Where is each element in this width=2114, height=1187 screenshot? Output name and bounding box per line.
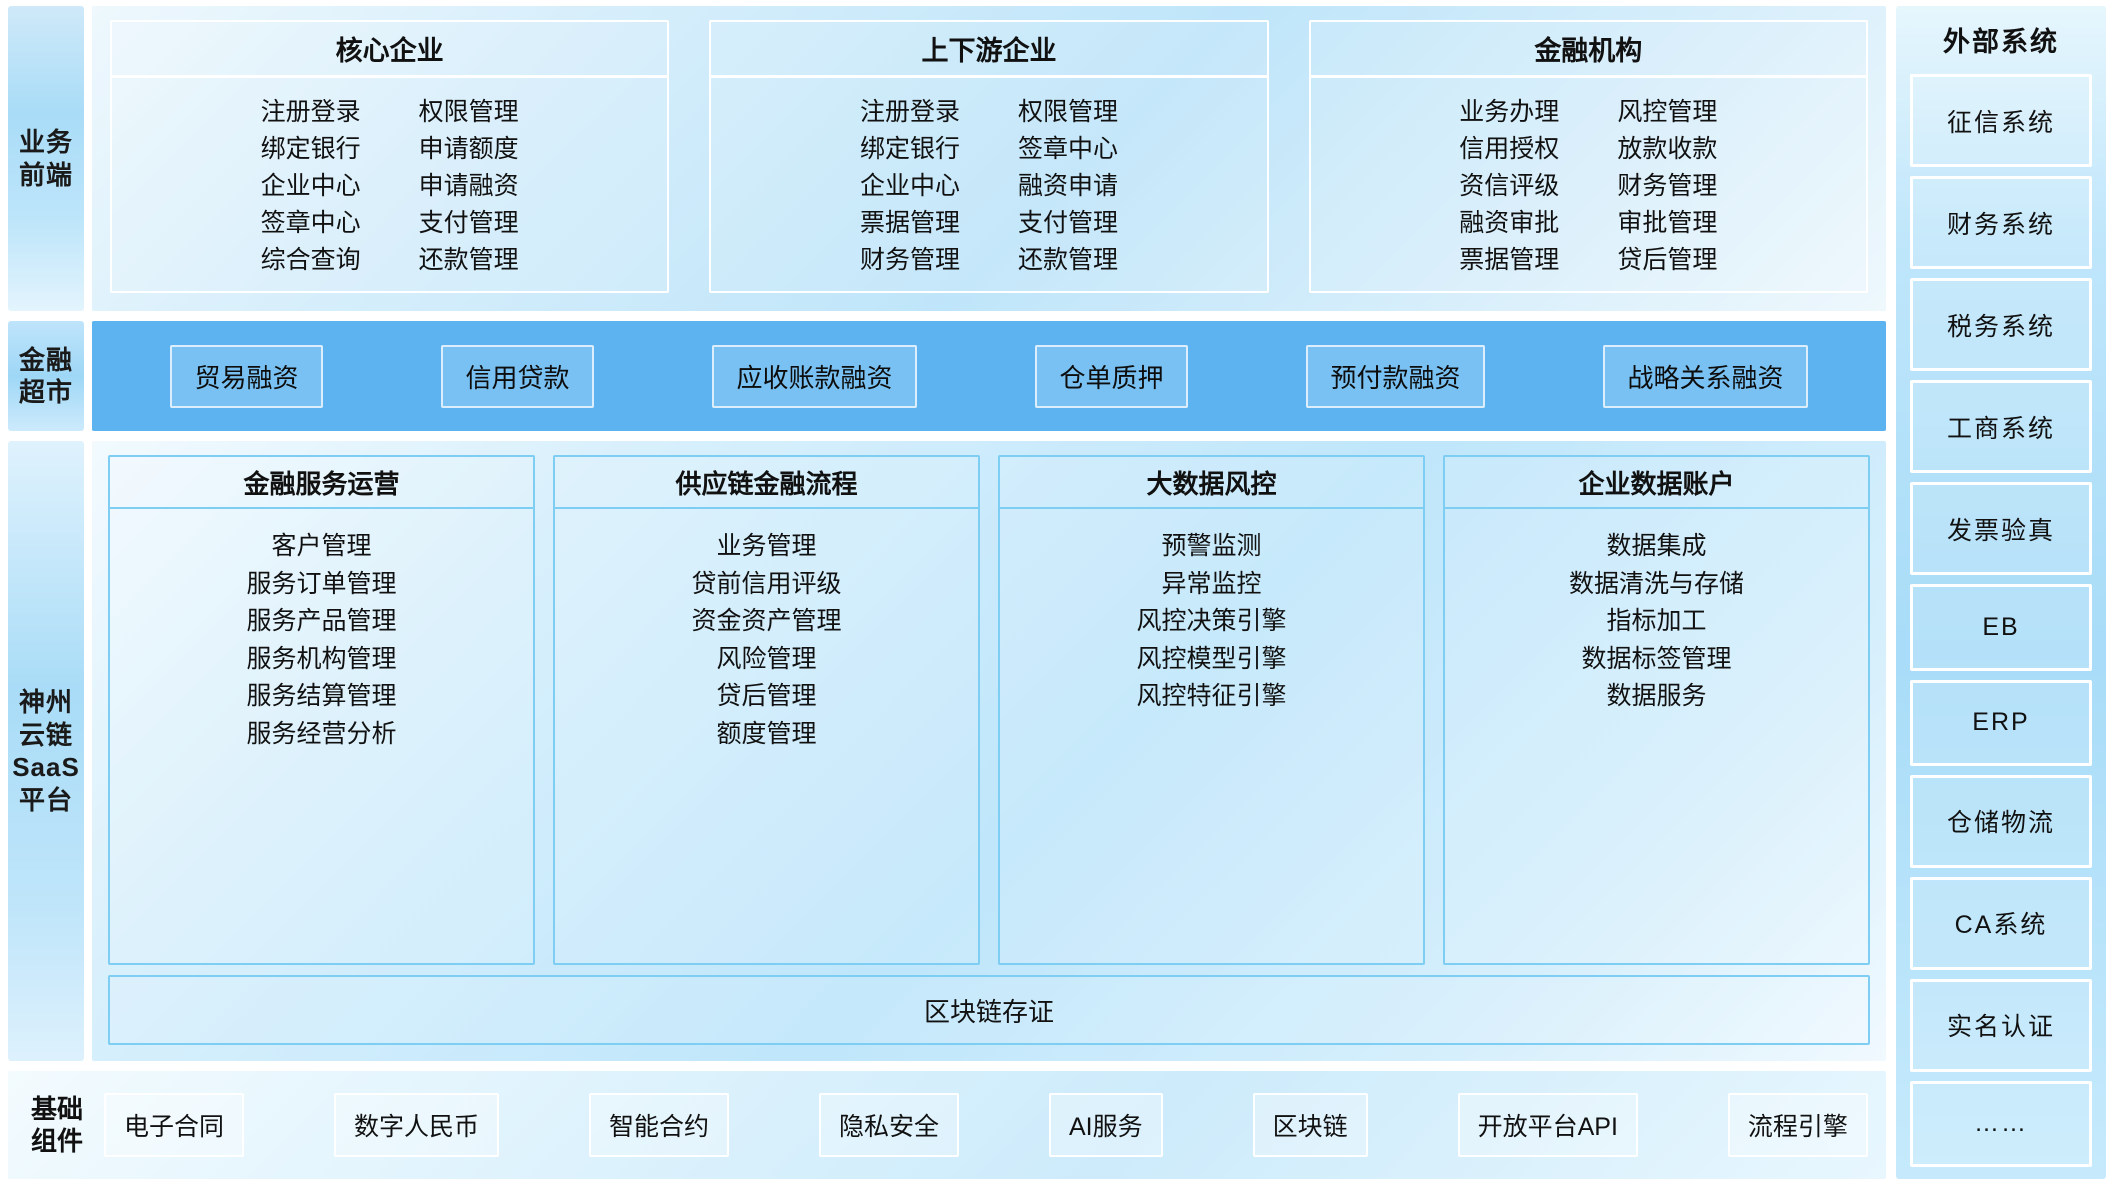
feature-item[interactable]: 风控管理 [1617,96,1717,129]
feature-item[interactable]: 预警监测 [1161,529,1261,564]
blockchain-evidence-bar[interactable]: 区块链存证 [108,975,1870,1045]
card-title: 金融机构 [1311,22,1866,78]
card-body: 业务管理 贷前信用评级 资金资产管理 风险管理 贷后管理 额度管理 [555,509,978,963]
base-chip-open-platform-api[interactable]: 开放平台API [1458,1093,1638,1157]
supermarket-tag-trade-finance[interactable]: 贸易融资 [170,345,322,408]
feature-item[interactable]: 注册登录 [261,96,361,129]
band-label-financial-supermarket: 金融 超市 [8,321,84,431]
feature-item[interactable]: 企业中心 [860,170,960,203]
feature-item[interactable]: 绑定银行 [860,133,960,166]
card-body: 注册登录 绑定银行 企业中心 票据管理 财务管理 权限管理 签章中心 融资申请 … [711,78,1266,291]
external-systems-title: 外部系统 [1910,16,2092,65]
architecture-diagram: 业务 前端 核心企业 注册登录 绑定银行 企业中心 签章中心 综合查询 [0,0,2114,1187]
feature-item[interactable]: 风险管理 [716,642,816,677]
feature-item[interactable]: 数据标签管理 [1581,642,1731,677]
feature-column-right: 权限管理 签章中心 融资申请 支付管理 还款管理 [1018,96,1118,277]
band-saas-platform: 神州 云链 SaaS 平台 金融服务运营 客户管理 服务订单管理 服务产品管理 … [8,441,1886,1061]
feature-item[interactable]: 支付管理 [419,207,519,240]
feature-item[interactable]: 注册登录 [860,96,960,129]
saas-card-row: 金融服务运营 客户管理 服务订单管理 服务产品管理 服务机构管理 服务结算管理 … [108,455,1870,965]
feature-item[interactable]: 数据清洗与存储 [1569,567,1744,602]
feature-item[interactable]: 信用授权 [1459,133,1559,166]
card-financial-service-operations[interactable]: 金融服务运营 客户管理 服务订单管理 服务产品管理 服务机构管理 服务结算管理 … [108,455,535,965]
band-label-line2: 云链 [12,719,80,752]
external-item-warehouse-logistics[interactable]: 仓储物流 [1910,775,2092,868]
band-base-components: 基础 组件 电子合同 数字人民币 智能合约 隐私安全 AI服务 区块链 开放平台… [8,1071,1886,1179]
card-supply-chain-finance-process[interactable]: 供应链金融流程 业务管理 贷前信用评级 资金资产管理 风险管理 贷后管理 额度管… [553,455,980,965]
band-body-financial-supermarket: 贸易融资 信用贷款 应收账款融资 仓单质押 预付款融资 战略关系融资 [92,321,1886,431]
feature-item[interactable]: 资金资产管理 [691,604,841,639]
feature-column-right: 权限管理 申请额度 申请融资 支付管理 还款管理 [419,96,519,277]
feature-item[interactable]: 客户管理 [271,529,371,564]
band-label-line2: 组件 [26,1125,88,1158]
band-financial-supermarket: 金融 超市 贸易融资 信用贷款 应收账款融资 仓单质押 预付款融资 战略关系融资 [8,321,1886,431]
band-label-line1: 神州 [12,686,80,719]
feature-item[interactable]: 贷后管理 [716,679,816,714]
feature-item[interactable]: 服务经营分析 [246,717,396,752]
supermarket-tag-prepayment-finance[interactable]: 预付款融资 [1306,345,1484,408]
card-body: 注册登录 绑定银行 企业中心 签章中心 综合查询 权限管理 申请额度 申请融资 … [112,78,667,291]
feature-item[interactable]: 贷后管理 [1617,244,1717,277]
feature-item[interactable]: 绑定银行 [261,133,361,166]
base-chip-digital-rmb[interactable]: 数字人民币 [334,1093,499,1157]
feature-column-left: 注册登录 绑定银行 企业中心 票据管理 财务管理 [860,96,960,277]
feature-item[interactable]: 签章中心 [1018,133,1118,166]
feature-item[interactable]: 还款管理 [419,244,519,277]
feature-item[interactable]: 风控决策引擎 [1136,604,1286,639]
feature-item[interactable]: 指标加工 [1606,604,1706,639]
feature-item[interactable]: 财务管理 [1617,170,1717,203]
band-label-line2: 超市 [19,376,73,409]
card-upstream-downstream-enterprise[interactable]: 上下游企业 注册登录 绑定银行 企业中心 票据管理 财务管理 权限管理 签章中心 [709,20,1268,293]
feature-item[interactable]: 票据管理 [860,207,960,240]
feature-item[interactable]: 异常监控 [1161,567,1261,602]
external-item-real-name-authentication[interactable]: 实名认证 [1910,979,2092,1072]
feature-item[interactable]: 支付管理 [1018,207,1118,240]
feature-item[interactable]: 申请融资 [419,170,519,203]
feature-item[interactable]: 票据管理 [1459,244,1559,277]
card-enterprise-data-account[interactable]: 企业数据账户 数据集成 数据清洗与存储 指标加工 数据标签管理 数据服务 [1443,455,1870,965]
feature-item[interactable]: 资信评级 [1459,170,1559,203]
feature-item[interactable]: 企业中心 [261,170,361,203]
feature-item[interactable]: 服务订单管理 [246,567,396,602]
base-chip-process-engine[interactable]: 流程引擎 [1728,1093,1868,1157]
feature-column-left: 注册登录 绑定银行 企业中心 签章中心 综合查询 [261,96,361,277]
external-item-ca-system[interactable]: CA系统 [1910,877,2092,970]
external-item-eb[interactable]: EB [1910,584,2092,670]
card-title: 企业数据账户 [1445,457,1868,509]
feature-item[interactable]: 放款收款 [1617,133,1717,166]
band-label-line4: 平台 [12,784,80,817]
base-chip-blockchain[interactable]: 区块链 [1253,1093,1368,1157]
band-label-line3: SaaS [12,751,80,784]
feature-item[interactable]: 风控特征引擎 [1136,679,1286,714]
band-label-line1: 基础 [26,1093,88,1126]
supermarket-tag-warehouse-receipt-pledge[interactable]: 仓单质押 [1035,345,1187,408]
band-label-base-components: 基础 组件 [26,1093,88,1158]
supermarket-tag-credit-loan[interactable]: 信用贷款 [441,345,593,408]
base-chip-ai-service[interactable]: AI服务 [1049,1093,1163,1157]
feature-item[interactable]: 融资审批 [1459,207,1559,240]
card-body: 预警监测 异常监控 风控决策引擎 风控模型引擎 风控特征引擎 [1000,509,1423,963]
card-body: 数据集成 数据清洗与存储 指标加工 数据标签管理 数据服务 [1445,509,1868,963]
feature-item[interactable]: 权限管理 [419,96,519,129]
band-body-business-frontend: 核心企业 注册登录 绑定银行 企业中心 签章中心 综合查询 权限管理 申请额度 [92,6,1886,311]
band-label-business-frontend: 业务 前端 [8,6,84,311]
feature-item[interactable]: 业务办理 [1459,96,1559,129]
card-core-enterprise[interactable]: 核心企业 注册登录 绑定银行 企业中心 签章中心 综合查询 权限管理 申请额度 [110,20,669,293]
base-chip-electronic-contract[interactable]: 电子合同 [104,1093,244,1157]
feature-item[interactable]: 申请额度 [419,133,519,166]
band-label-line1: 业务 [19,126,73,159]
feature-item[interactable]: 融资申请 [1018,170,1118,203]
card-title: 大数据风控 [1000,457,1423,509]
external-systems-panel: 外部系统 征信系统 财务系统 税务系统 工商系统 发票验真 EB ERP 仓储物… [1896,6,2106,1179]
external-item-erp[interactable]: ERP [1910,680,2092,766]
feature-item[interactable]: 风控模型引擎 [1136,642,1286,677]
external-item-more[interactable]: …… [1910,1081,2092,1167]
band-label-line2: 前端 [19,159,73,192]
external-item-invoice-verification[interactable]: 发票验真 [1910,482,2092,575]
card-body: 业务办理 信用授权 资信评级 融资审批 票据管理 风控管理 放款收款 财务管理 … [1311,78,1866,291]
feature-item[interactable]: 数据集成 [1606,529,1706,564]
feature-item[interactable]: 贷前信用评级 [691,567,841,602]
card-big-data-risk-control[interactable]: 大数据风控 预警监测 异常监控 风控决策引擎 风控模型引擎 风控特征引擎 [998,455,1425,965]
feature-item[interactable]: 综合查询 [261,244,361,277]
base-component-list: 电子合同 数字人民币 智能合约 隐私安全 AI服务 区块链 开放平台API 流程… [104,1093,1868,1157]
feature-item[interactable]: 审批管理 [1617,207,1717,240]
external-item-business-registration-system[interactable]: 工商系统 [1910,380,2092,473]
supermarket-tag-strategic-relationship-finance[interactable]: 战略关系融资 [1603,345,1807,408]
feature-item[interactable]: 权限管理 [1018,96,1118,129]
feature-item[interactable]: 额度管理 [716,717,816,752]
feature-column-left: 业务办理 信用授权 资信评级 融资审批 票据管理 [1459,96,1559,277]
external-item-credit-reporting-system[interactable]: 征信系统 [1910,74,2092,167]
feature-item[interactable]: 业务管理 [716,529,816,564]
card-title: 金融服务运营 [110,457,533,509]
card-financial-institution[interactable]: 金融机构 业务办理 信用授权 资信评级 融资审批 票据管理 风控管理 放款收款 [1309,20,1868,293]
base-chip-smart-contract[interactable]: 智能合约 [589,1093,729,1157]
external-item-tax-system[interactable]: 税务系统 [1910,278,2092,371]
feature-item[interactable]: 服务机构管理 [246,642,396,677]
card-title: 上下游企业 [711,22,1266,78]
external-item-finance-system[interactable]: 财务系统 [1910,176,2092,269]
card-title: 核心企业 [112,22,667,78]
band-label-line1: 金融 [19,344,73,377]
band-body-saas-platform: 金融服务运营 客户管理 服务订单管理 服务产品管理 服务机构管理 服务结算管理 … [92,441,1886,1061]
supermarket-tag-receivables-finance[interactable]: 应收账款融资 [712,345,916,408]
feature-column-right: 风控管理 放款收款 财务管理 审批管理 贷后管理 [1617,96,1717,277]
feature-item[interactable]: 数据服务 [1606,679,1706,714]
base-chip-privacy-security[interactable]: 隐私安全 [819,1093,959,1157]
band-business-frontend: 业务 前端 核心企业 注册登录 绑定银行 企业中心 签章中心 综合查询 [8,6,1886,311]
feature-item[interactable]: 签章中心 [261,207,361,240]
feature-item[interactable]: 服务产品管理 [246,604,396,639]
main-stack: 业务 前端 核心企业 注册登录 绑定银行 企业中心 签章中心 综合查询 [8,6,1886,1179]
card-body: 客户管理 服务订单管理 服务产品管理 服务机构管理 服务结算管理 服务经营分析 [110,509,533,963]
feature-item[interactable]: 财务管理 [860,244,960,277]
feature-item[interactable]: 服务结算管理 [246,679,396,714]
band-label-saas-platform: 神州 云链 SaaS 平台 [8,441,84,1061]
feature-item[interactable]: 还款管理 [1018,244,1118,277]
card-title: 供应链金融流程 [555,457,978,509]
